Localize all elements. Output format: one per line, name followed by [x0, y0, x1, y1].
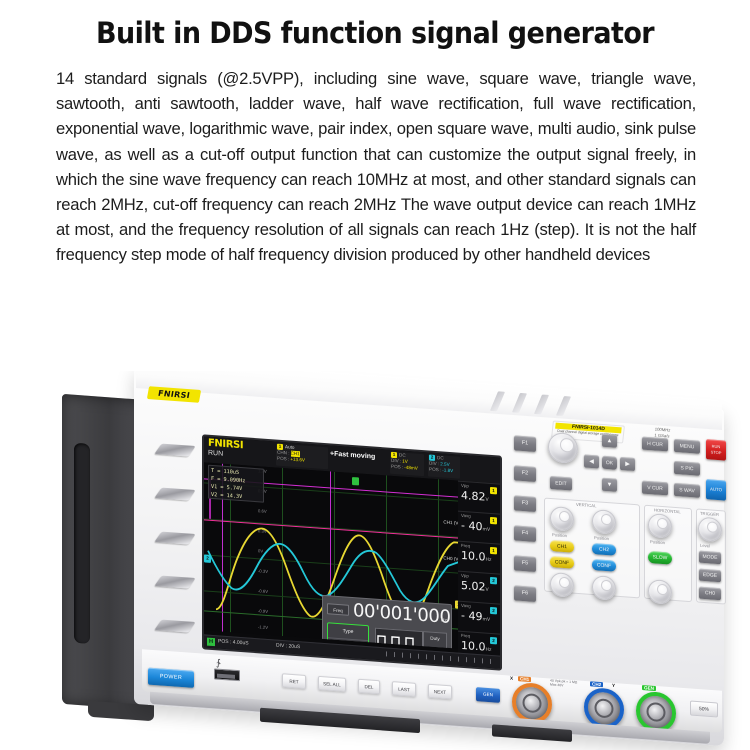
page-title: Built in DDS function signal generator: [26, 16, 724, 50]
screen-surface: FNIRSI RUN 1 Auto CHN : CH1: [204, 436, 500, 668]
ch2-pos-value: -1.8V: [442, 467, 453, 474]
rail-badge: 2: [490, 607, 497, 615]
connector-note: 40 Vpk-pk = 1 MΩ Max 40V: [550, 678, 577, 689]
function-key-f6[interactable]: F6: [514, 585, 536, 602]
run-stop-button[interactable]: RUN STOP: [706, 439, 726, 460]
generator-freq-label[interactable]: Freq: [327, 603, 349, 616]
ch2-conf-button[interactable]: CONF: [592, 559, 616, 572]
ch2-button[interactable]: CH2: [592, 543, 616, 556]
oscilloscope-device: FNIRSI FNIRSI-1014D Dual channel digital…: [62, 385, 722, 750]
horizontal-position-label: Position: [650, 539, 665, 545]
ch1-connector-axis: X: [508, 675, 515, 681]
rail-badge: 2: [490, 637, 497, 645]
arrow-down-button[interactable]: ▼: [602, 478, 617, 492]
rail-cell[interactable]: Vavg - 49mV 2: [458, 601, 500, 634]
rail-cell[interactable]: Freq 10.0Hz 1: [458, 541, 500, 574]
ch2-connector-axis: Y: [610, 683, 617, 689]
h-cursor-button[interactable]: H CUR: [642, 437, 668, 452]
ch2-connector-label: CH2: [590, 681, 603, 687]
side-vents: [158, 443, 204, 676]
vent-slot: [154, 620, 195, 633]
last-button[interactable]: LAST: [392, 681, 416, 697]
rail-unit: V: [486, 588, 489, 593]
auto-button[interactable]: AUTO: [706, 479, 726, 500]
measurement-rail: Vpp 4.82V 1 Vavg - 40mV 1 Freq 10.0Hz: [458, 481, 500, 669]
description-paragraph: 14 standard signals (@2.5VPP), including…: [56, 66, 696, 268]
trigger-pos-value: +13.6V: [290, 457, 305, 464]
rail-cell[interactable]: Vavg - 40mV 1: [458, 511, 500, 544]
ch1-connector-label: CH1: [518, 676, 531, 682]
generator-waveform-preview: [375, 628, 423, 649]
run-state-label: RUN: [208, 450, 223, 458]
rail-cell[interactable]: Vpp 5.02V 2: [458, 571, 500, 604]
horizontal-badge: H: [207, 638, 215, 647]
square-wave-icon: [376, 629, 422, 649]
vent-slot: [154, 576, 195, 589]
gen-button[interactable]: GEN: [476, 687, 500, 703]
ch2-pos-label: POS :: [429, 467, 441, 474]
trigger-edge-button[interactable]: EDGE: [699, 569, 721, 583]
save-picture-button[interactable]: S PIC: [674, 461, 700, 476]
rail-badge: 1: [490, 487, 497, 495]
product-photo: FNIRSI FNIRSI-1014D Dual channel digital…: [0, 371, 750, 750]
gen-connector-label: GEN: [642, 685, 656, 691]
ch1-position-label: Position: [552, 532, 567, 538]
page-root: Built in DDS function signal generator 1…: [0, 16, 750, 750]
function-key-f1[interactable]: F1: [514, 435, 536, 452]
rail-cell[interactable]: Vpp 4.82V 1: [458, 481, 500, 514]
function-key-f5[interactable]: F5: [514, 555, 536, 572]
slow-button[interactable]: SLOW: [648, 551, 672, 565]
horizontal-pos-text: POS : 4.00uS: [218, 638, 249, 646]
fast-moving-text: Fast moving: [334, 451, 375, 461]
horizontal-div-text: DIV : 20uS: [276, 643, 300, 651]
del-button[interactable]: DEL: [358, 679, 380, 695]
lcd-screen[interactable]: FNIRSI RUN 1 Auto CHN : CH1: [202, 434, 502, 671]
edit-button[interactable]: EDIT: [550, 476, 572, 491]
ch2-marker: 2: [204, 554, 211, 563]
function-key-f3[interactable]: F3: [514, 495, 536, 512]
generator-freq-value[interactable]: 00'001'000: [353, 600, 451, 628]
generator-duty-value: 50 %: [424, 644, 446, 649]
rail-badge: 1: [490, 517, 497, 525]
vent-slot: [534, 395, 549, 415]
arrow-right-button[interactable]: ▶: [620, 457, 635, 471]
vent-slot: [154, 444, 195, 457]
rail-unit: mV: [482, 527, 490, 533]
arrow-up-button[interactable]: ▲: [602, 434, 617, 448]
sel-all-button[interactable]: SEL ALL: [318, 676, 346, 692]
next-button[interactable]: NEXT: [428, 684, 452, 700]
vent-slot: [556, 396, 571, 416]
description-text: 14 standard signals (@2.5VPP), including…: [56, 66, 696, 268]
menu-button[interactable]: MENU: [674, 439, 700, 454]
function-key-f2[interactable]: F2: [514, 465, 536, 482]
trigger-channel-button[interactable]: CH0: [699, 587, 721, 601]
usb-port[interactable]: [214, 668, 240, 681]
signal-generator-panel[interactable]: Freq 00'001'000 Hz Type Square: [322, 595, 452, 649]
vent-slot: [154, 488, 195, 501]
arrow-left-button[interactable]: ◀: [584, 454, 599, 468]
rail-badge: 1: [490, 547, 497, 555]
fast-moving-label: +Fast moving: [330, 450, 375, 460]
rail-unit: V: [486, 498, 489, 503]
ch1-conf-button[interactable]: CONF: [550, 556, 574, 569]
vent-slot: [154, 532, 195, 545]
function-key-f4[interactable]: F4: [514, 525, 536, 542]
save-wave-button[interactable]: S WAV: [674, 483, 700, 498]
rail-unit: Hz: [486, 648, 492, 653]
control-panel: F1 F2 F3 F4 F5 F6 EDIT ▲ ◀ OK ▶ ▼ H: [514, 421, 726, 682]
vent-slot: [512, 393, 527, 413]
ch1-button[interactable]: CH1: [550, 540, 574, 553]
generator-freq-unit: Hz: [441, 617, 447, 623]
trigger-pos-label: POS :: [277, 456, 289, 463]
fifty-percent-button[interactable]: 50%: [690, 700, 718, 717]
ch1-pos-value: -48mV: [404, 465, 418, 472]
trigger-marker: [352, 477, 359, 486]
ch1-chip[interactable]: 1 DC DIV : 1V POS : -48mV: [390, 452, 424, 476]
power-button[interactable]: POWER: [148, 668, 194, 688]
waveform-plot[interactable]: 1.2V 0.9V 0.6V 0.3V 0V -0.3V -0.6V -0.9V…: [204, 462, 462, 648]
trigger-level-label: Level: [700, 543, 710, 549]
rail-unit: mV: [482, 617, 490, 623]
usb-icon: ∱: [216, 658, 221, 669]
measurement-box: T = 110uS F = 9.090Hz V1 = 5.74V V2 = 14…: [208, 465, 264, 503]
generator-duty-selector[interactable]: Duty 50 %: [423, 631, 447, 649]
ok-button[interactable]: OK: [602, 456, 617, 470]
main-rotary-knob[interactable]: [548, 432, 578, 464]
trigger-chip[interactable]: 1 Auto CHN : CH1 POS : +13.6V: [276, 444, 328, 470]
trigger-mode-button[interactable]: MODE: [699, 551, 721, 565]
function-key-column: F1 F2 F3 F4 F5 F6: [514, 435, 540, 437]
rail-badge: 2: [490, 577, 497, 585]
ch2-chip[interactable]: 2 DC DIV : 2.5V POS : -1.8V: [428, 454, 460, 478]
ch1-pos-label: POS :: [391, 464, 403, 471]
ch2-position-label: Position: [594, 535, 609, 541]
stand-handle-cutout: [74, 443, 90, 644]
v-cursor-button[interactable]: V CUR: [642, 481, 668, 496]
ret-button[interactable]: RET: [282, 673, 306, 689]
rail-unit: Hz: [486, 558, 492, 563]
